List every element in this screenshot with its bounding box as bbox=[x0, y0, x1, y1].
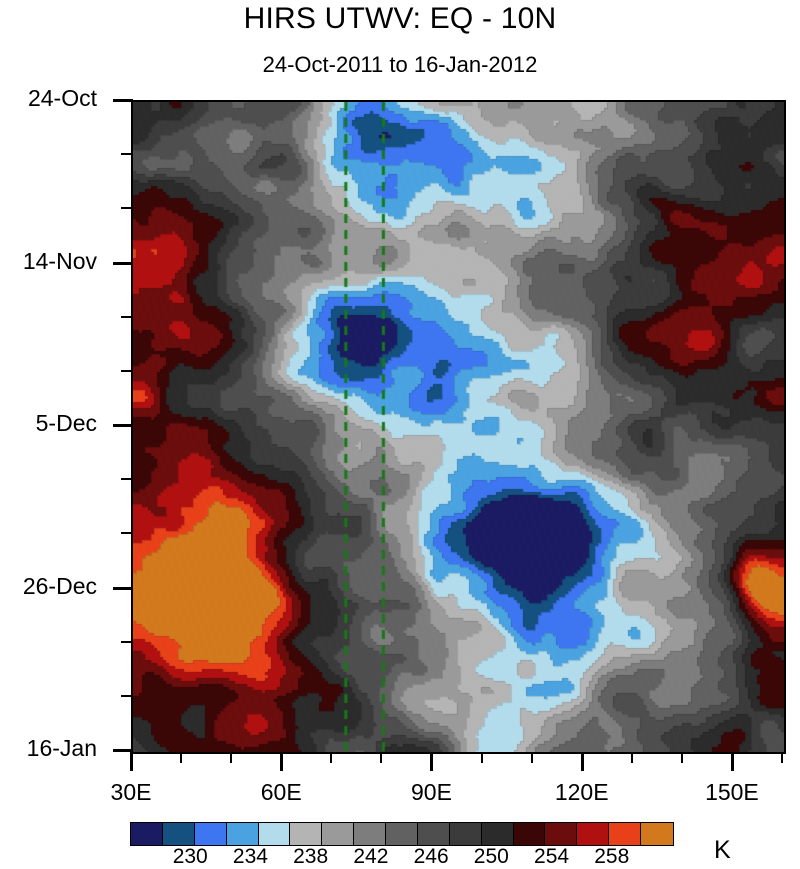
colorbar-swatch bbox=[577, 823, 609, 845]
colorbar-swatch bbox=[195, 823, 227, 845]
colorbar-swatch bbox=[322, 823, 354, 845]
colorbar-swatch bbox=[227, 823, 259, 845]
colorbar-tick-label: 250 bbox=[474, 845, 509, 869]
y-axis-minor-tick bbox=[121, 153, 133, 155]
colorbar-swatch bbox=[163, 823, 195, 845]
colorbar-unit-label: K bbox=[714, 836, 731, 865]
y-axis-tick-label: 26-Dec bbox=[23, 573, 97, 600]
x-axis-major-tick bbox=[130, 752, 133, 771]
y-axis-minor-tick bbox=[121, 370, 133, 372]
x-axis-tick-label: 150E bbox=[705, 779, 759, 806]
y-axis-minor-tick bbox=[121, 641, 133, 643]
page-title: HIRS UTWV: EQ - 10N bbox=[0, 2, 800, 36]
colorbar-swatch bbox=[545, 823, 577, 845]
y-axis-minor-tick bbox=[121, 316, 133, 318]
x-axis-tick-label: 30E bbox=[111, 779, 152, 806]
colorbar-swatch bbox=[290, 823, 322, 845]
colorbar-swatch bbox=[386, 823, 418, 845]
plot-area bbox=[131, 100, 786, 754]
y-axis-minor-tick bbox=[121, 695, 133, 697]
hovmoller-figure: HIRS UTWV: EQ - 10N 24-Oct-2011 to 16-Ja… bbox=[0, 0, 800, 864]
colorbar-swatch bbox=[450, 823, 482, 845]
x-axis-minor-tick bbox=[180, 752, 182, 763]
colorbar-swatch bbox=[418, 823, 450, 845]
y-axis-tick-label: 5-Dec bbox=[36, 410, 97, 437]
y-axis-minor-tick bbox=[121, 478, 133, 480]
y-axis-major-tick bbox=[113, 262, 133, 265]
x-axis-minor-tick bbox=[681, 752, 683, 763]
x-axis-major-tick bbox=[280, 752, 283, 771]
x-axis-major-tick bbox=[581, 752, 584, 771]
y-axis-tick-label: 16-Jan bbox=[27, 735, 97, 762]
x-axis-tick-label: 60E bbox=[261, 779, 302, 806]
y-axis-major-tick bbox=[113, 99, 133, 102]
colorbar-tick-label: 242 bbox=[353, 845, 388, 869]
colorbar-tick-label: 246 bbox=[414, 845, 449, 869]
colorbar-swatch bbox=[354, 823, 386, 845]
colorbar-swatch bbox=[259, 823, 291, 845]
colorbar-tick-label: 230 bbox=[173, 845, 208, 869]
x-axis-minor-tick bbox=[330, 752, 332, 763]
colorbar-tick-label: 238 bbox=[293, 845, 328, 869]
x-axis-tick-label: 90E bbox=[411, 779, 452, 806]
x-axis-minor-tick bbox=[380, 752, 382, 763]
colorbar-swatch bbox=[609, 823, 641, 845]
x-axis-minor-tick bbox=[631, 752, 633, 763]
colorbar-tick-label: 254 bbox=[534, 845, 569, 869]
colorbar-swatch bbox=[131, 823, 163, 845]
colorbar-swatch bbox=[514, 823, 546, 845]
y-axis-major-tick bbox=[113, 587, 133, 590]
x-axis-major-tick bbox=[731, 752, 734, 771]
y-axis-tick-label: 14-Nov bbox=[23, 248, 97, 275]
x-axis-major-tick bbox=[430, 752, 433, 771]
x-axis-minor-tick bbox=[781, 752, 783, 763]
page-subtitle: 24-Oct-2011 to 16-Jan-2012 bbox=[0, 52, 800, 78]
y-axis-minor-tick bbox=[121, 207, 133, 209]
y-axis-tick-label: 24-Oct bbox=[28, 85, 97, 112]
x-axis-minor-tick bbox=[230, 752, 232, 763]
contour-field bbox=[133, 102, 784, 752]
colorbar-swatch bbox=[482, 823, 514, 845]
colorbar-tick-label: 234 bbox=[233, 845, 268, 869]
x-axis-minor-tick bbox=[531, 752, 533, 763]
y-axis-minor-tick bbox=[121, 532, 133, 534]
y-axis-major-tick bbox=[113, 424, 133, 427]
x-axis-minor-tick bbox=[481, 752, 483, 763]
colorbar-tick-label: 258 bbox=[594, 845, 629, 869]
colorbar-swatch bbox=[641, 823, 673, 845]
colorbar bbox=[130, 822, 674, 846]
x-axis-tick-label: 120E bbox=[555, 779, 609, 806]
